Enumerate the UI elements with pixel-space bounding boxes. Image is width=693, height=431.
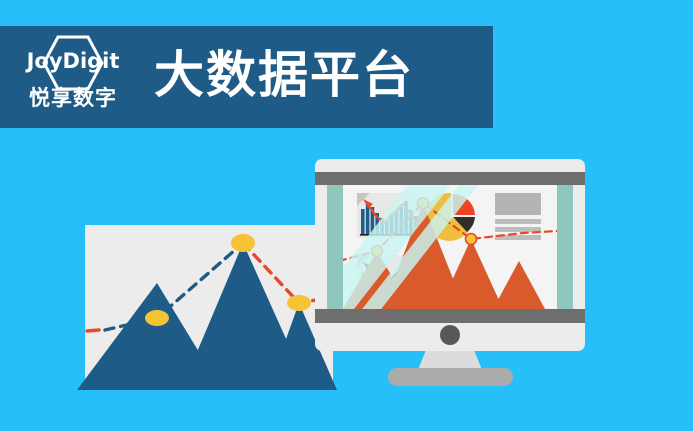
mountain-area-chart: [85, 225, 333, 390]
logo-subtitle: 悦享数字: [29, 88, 117, 109]
data-point-marker: [287, 295, 311, 311]
monitor-top-bar: [315, 172, 585, 185]
trend-dashed-tail: [87, 330, 99, 331]
brand-logo: JoyDigit 悦享数字: [14, 33, 132, 121]
desktop-monitor: [315, 159, 585, 351]
monitor-power-led: [440, 325, 460, 345]
data-point-marker: [466, 234, 477, 245]
data-point-marker: [231, 234, 255, 252]
mountain-area-chart-card: [85, 225, 333, 390]
mountain-shape-front: [181, 243, 309, 390]
logo-wordmark: JoyDigit: [27, 51, 120, 72]
dashboard-canvas: [343, 185, 557, 309]
page-title: 大数据平台: [154, 50, 414, 100]
monitor-stand-base: [388, 368, 513, 386]
header-banner: JoyDigit 悦享数字 大数据平台: [0, 26, 493, 128]
monitor-screen: [327, 185, 573, 309]
monitor-bottom-bar: [315, 309, 585, 323]
mountain-shape-right: [493, 261, 545, 309]
illustration-stage: JoyDigit 悦享数字 大数据平台: [0, 0, 693, 431]
data-point-marker: [145, 310, 169, 326]
